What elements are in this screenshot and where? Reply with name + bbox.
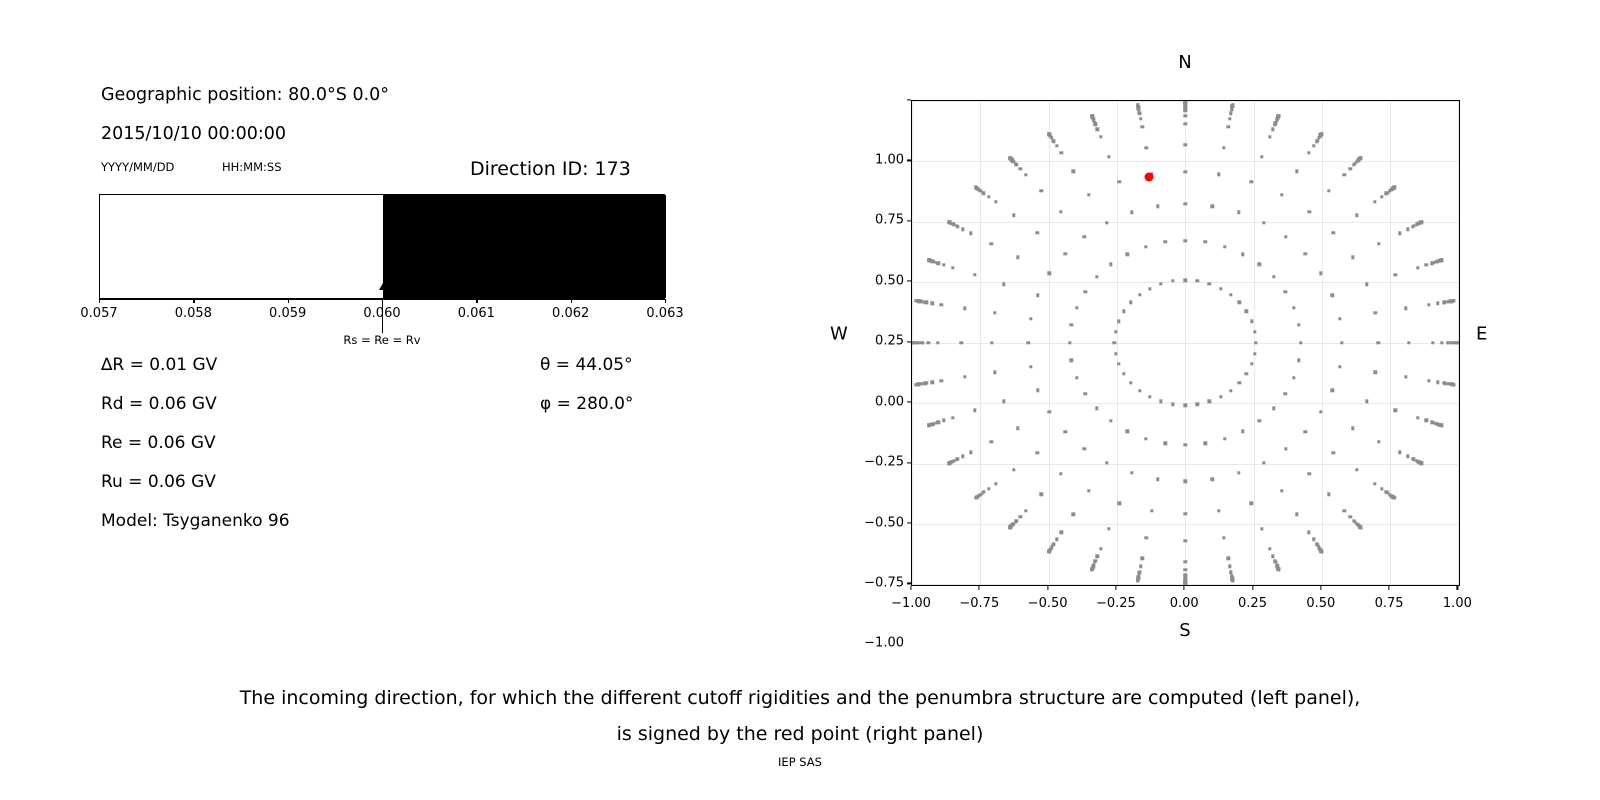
direction-dot [1411,225,1414,228]
direction-dot [1183,512,1186,515]
direction-dot [1063,430,1066,433]
direction-dot [1008,156,1011,159]
parameter-item: ∆R = 0.01 GV [101,355,217,375]
direction-dot [1136,579,1139,582]
direction-dot [1122,372,1125,375]
direction-dot [1331,451,1334,454]
direction-dot [1284,447,1287,450]
direction-dot [1359,526,1362,529]
direction-dot [1442,301,1445,304]
direction-dot [1008,526,1011,529]
direction-dot [982,192,985,195]
x-tick-mark [1252,586,1253,590]
direction-dot [1036,294,1039,297]
direction-dot [1217,509,1220,512]
gridline [912,282,1459,283]
direction-dot [1319,410,1322,413]
direction-dot [1427,379,1430,382]
direction-dot [1250,502,1253,505]
direction-dot [1327,189,1330,192]
direction-dot [1159,282,1162,285]
direction-dot [1254,341,1257,344]
y-tick-label: 0.50 [875,273,904,288]
direction-dot [1283,290,1286,293]
x-tick-label: 0.25 [1238,596,1267,611]
direction-dot [1095,275,1098,278]
direction-dot [1365,283,1368,286]
direction-dot [1373,200,1376,203]
direction-dot [1109,263,1112,266]
direction-dot [1349,167,1352,170]
direction-dot [1138,570,1141,573]
x-tick-mark [1320,586,1321,590]
direction-dot [1245,372,1248,375]
direction-dot [921,341,924,344]
direction-dot [1271,554,1274,557]
direction-dot [1338,365,1341,368]
parameter-item: Model: Tsyganenko 96 [101,511,290,531]
x-tick-mark [1184,586,1185,590]
direction-dot [1107,527,1110,530]
y-tick-mark [907,522,911,523]
direction-dot [1114,330,1117,333]
direction-dot [1250,320,1253,323]
direction-dot [1087,489,1090,492]
direction-dot [911,341,914,344]
direction-dot [1096,128,1099,131]
direction-dot [1183,170,1186,173]
direction-dot [1018,515,1021,518]
direction-dot [1425,419,1428,422]
direction-dot [1150,509,1153,512]
direction-dot [1237,471,1240,474]
direction-dot [1407,341,1410,344]
direction-dot [1141,125,1144,128]
direction-dot [1211,204,1214,207]
x-tick-label: −0.50 [1028,596,1068,611]
y-tick-mark [907,160,911,161]
x-tick-mark [1457,586,1458,590]
selected-direction-marker[interactable] [1145,173,1154,182]
direction-dot [1283,392,1286,395]
direction-dot [1416,266,1419,269]
direction-dot [1393,496,1396,499]
direction-dot [1171,279,1174,282]
direction-dot [1223,437,1226,440]
direction-dot [1377,341,1380,344]
direction-dot [1262,461,1265,464]
direction-dot [1036,451,1039,454]
direction-dot [961,227,964,230]
direction-dot [963,307,966,310]
direction-dot [1109,419,1112,422]
direction-dot [1237,211,1240,214]
direction-dot [1055,538,1058,541]
direction-dot [1338,317,1341,320]
direction-dot [1060,531,1063,534]
direction-dot [1222,536,1225,539]
direction-dot [1253,330,1256,333]
y-tick-label: −0.50 [864,515,904,530]
direction-dot [1040,493,1043,496]
direction-dot [1229,389,1232,392]
direction-dot [1148,395,1151,398]
direction-dot [961,455,964,458]
direction-id-label: Direction ID: 173 [470,158,631,180]
compass-label-east: E [1476,324,1487,345]
direction-dot [1229,570,1232,573]
direction-dot [1139,565,1142,568]
direction-dot [1404,375,1407,378]
direction-dot [1331,388,1334,391]
x-tick-label: 1.00 [1443,596,1472,611]
direction-dot [993,371,996,374]
direction-dot [1292,306,1295,309]
direction-dot [969,231,972,234]
direction-dot [987,195,990,198]
direction-dot [1297,323,1300,326]
direction-dot [1268,547,1271,550]
direction-dot [1055,144,1058,147]
compass-label-south: S [1179,620,1190,641]
direction-dot [1047,550,1050,553]
direction-dot [1406,227,1409,230]
direction-dot [1442,381,1445,384]
direction-dot [1295,512,1298,515]
direction-dot [1012,468,1015,471]
direction-dot [1036,388,1039,391]
direction-dot [1452,383,1455,386]
x-tick-label: 0.00 [1170,596,1199,611]
direction-dot [1145,146,1148,149]
direction-dot [1352,163,1355,166]
direction-dot [1398,231,1401,234]
direction-dot [1351,426,1354,429]
direction-dot [1084,392,1087,395]
direction-dot [973,409,976,412]
direction-dot [1096,554,1099,557]
direction-dot [1016,426,1019,429]
direction-dot [1258,263,1261,266]
direction-dot [1183,239,1186,242]
direction-dot [1105,461,1108,464]
direction-dot [1315,140,1318,143]
direction-dot [1015,163,1018,166]
y-tick-mark [907,462,911,463]
direction-dot [1228,565,1231,568]
direction-dot [1253,352,1256,355]
datetime-text: 2015/10/10 00:00:00 [101,124,286,144]
direction-dot [1393,186,1396,189]
gridline [912,222,1459,223]
direction-dot [1272,275,1275,278]
x-tick-mark [1115,586,1116,590]
x-tick-label: −1.00 [891,596,931,611]
direction-dot [951,266,954,269]
direction-dot [1138,112,1141,115]
direction-dot [1250,180,1253,183]
direction-dot [1299,341,1302,344]
parameter-item: φ = 280.0° [540,394,633,414]
direction-dot [969,451,972,454]
direction-dot [1016,256,1019,259]
direction-dot [1308,210,1311,213]
direction-dot [1320,550,1323,553]
x-tick-label: 0.75 [1375,596,1404,611]
direction-dot [1126,253,1129,256]
direction-dot [940,303,943,306]
direction-dot [1129,381,1132,384]
direction-dot [1027,341,1030,344]
direction-dot [925,381,928,384]
direction-dot [1277,568,1280,571]
direction-dot [1355,214,1358,217]
direction-dot [974,496,977,499]
direction-dot [1072,170,1075,173]
direction-dot [1373,482,1376,485]
direction-dot [1052,140,1055,143]
footer-credit: IEP SAS [0,755,1600,769]
direction-dot [1340,341,1343,344]
figure-caption: The incoming direction, for which the di… [0,680,1600,752]
direction-dot [1226,557,1229,560]
direction-dot [1380,195,1383,198]
direction-dot [1117,502,1120,505]
y-tick-mark [907,220,911,221]
direction-dot [1374,371,1377,374]
direction-dot [1229,293,1232,296]
direction-dot [1183,122,1186,125]
direction-dot [1183,109,1186,112]
direction-dot [937,262,940,265]
direction-dot [1411,457,1414,460]
direction-dot [1129,301,1132,304]
direction-dot [1271,128,1274,131]
direction-dot [1196,403,1199,406]
direction-dot [1208,282,1211,285]
direction-dot [1136,103,1139,106]
x-axis-tick-labels: −1.00−0.75−0.50−0.250.000.250.500.751.00 [911,592,1460,622]
direction-dot [1217,173,1220,176]
x-tick-label: −0.75 [959,596,999,611]
direction-dot [1070,359,1073,362]
direction-dot [1241,253,1244,256]
direction-dot [1292,376,1295,379]
direction-dot [947,220,950,223]
direction-dot [1436,302,1439,305]
parameter-item: Rd = 0.06 GV [101,394,217,414]
direction-dot [1117,362,1120,365]
direction-dot [1297,359,1300,362]
direction-dot [1343,173,1346,176]
y-tick-label: 0.00 [875,394,904,409]
direction-dot [1183,568,1186,571]
direction-dot [1183,573,1186,576]
direction-dot [1183,404,1186,407]
direction-dot [990,440,993,443]
direction-dot [1295,170,1298,173]
direction-dot [1250,362,1253,365]
direction-dot [1183,278,1186,281]
direction-dot [927,341,930,344]
direction-dot [1204,240,1207,243]
direction-dot [1130,471,1133,474]
direction-dot [915,299,918,302]
direction-dot [1183,202,1186,205]
direction-dot [1380,487,1383,490]
direction-dot [1183,143,1186,146]
direction-dot [1015,519,1018,522]
direction-dot [1312,144,1315,147]
direction-dot [1048,410,1051,413]
direction-dot [1163,240,1166,243]
direction-dot [1440,341,1443,344]
direction-dot [1075,376,1078,379]
direction-dot [1430,262,1433,265]
direction-dot [1226,125,1229,128]
direction-dot [1394,409,1397,412]
direction-dot [1072,512,1075,515]
direction-dot [940,379,943,382]
direction-dot [1219,287,1222,290]
y-tick-mark [907,99,911,100]
direction-dot [1107,155,1110,158]
direction-dot [1398,451,1401,454]
direction-dot [1099,135,1102,138]
direction-dot [1416,416,1419,419]
direction-dot [973,273,976,276]
direction-dot [1268,135,1271,138]
direction-dot [1229,112,1232,115]
rigidity-arrow-label: Rs = Re = Rv [343,333,420,347]
direction-dot [1427,303,1430,306]
direction-dot [960,341,963,344]
direction-dot [1113,341,1116,344]
direction-dot [927,424,930,427]
caption-line-1: The incoming direction, for which the di… [0,680,1600,716]
direction-dot [994,200,997,203]
direction-dot [1359,156,1362,159]
direction-dot [1211,478,1214,481]
y-tick-label: −1.00 [864,636,904,651]
direction-dot [1156,478,1159,481]
direction-dot [931,302,934,305]
direction-dot [925,301,928,304]
direction-dot [1351,256,1354,259]
x-tick-mark [910,586,911,590]
direction-dot [1307,151,1310,154]
direction-dot [1012,214,1015,217]
direction-dot [1075,306,1078,309]
date-format-hint: YYYY/MM/DD [101,160,174,174]
direction-dot [1144,437,1147,440]
direction-dot [1002,283,1005,286]
direction-dot [990,341,993,344]
direction-dot [1047,132,1050,135]
direction-dot [956,225,959,228]
direction-dot [1425,263,1428,266]
direction-dot [1105,221,1108,224]
direction-dot [1320,132,1323,135]
parameter-item: Ru = 0.06 GV [101,472,216,492]
direction-dot [1452,299,1455,302]
direction-dot [1171,403,1174,406]
compass-label-north: N [1178,52,1191,73]
direction-dot [1084,290,1087,293]
direction-dot [1312,538,1315,541]
direction-dot [931,380,934,383]
direction-dot [1223,245,1226,248]
x-tick-mark [979,586,980,590]
direction-dot [1260,527,1263,530]
direction-dot [942,419,945,422]
direction-dot [963,375,966,378]
y-tick-label: 0.25 [875,334,904,349]
direction-dot [1374,311,1377,314]
direction-dot [1304,252,1307,255]
direction-dot [1122,310,1125,313]
direction-dot [1156,204,1159,207]
caption-line-2: is signed by the red point (right panel) [0,716,1600,752]
direction-dot [1183,480,1186,483]
direction-dot [1241,429,1244,432]
penumbra-tick [665,299,666,303]
direction-dot [1183,560,1186,563]
direction-dot [987,487,990,490]
x-tick-label: 0.50 [1306,596,1335,611]
direction-dot [1307,531,1310,534]
right-panel: N S W E −1.00−0.75−0.50−0.250.000.250.50… [820,40,1520,660]
direction-dot [1238,301,1241,304]
direction-dot [1090,568,1093,571]
direction-dot [1018,167,1021,170]
x-tick-mark [1389,586,1390,590]
direction-dot [1059,472,1062,475]
y-tick-mark [907,341,911,342]
direction-dot [1060,151,1063,154]
direction-dot [942,263,945,266]
direction-dot [1163,442,1166,445]
x-tick-label: −0.25 [1096,596,1136,611]
direction-dot [1145,536,1148,539]
rigidity-arrow-head [379,283,387,290]
direction-dot [1377,440,1380,443]
direction-dot [1331,231,1334,234]
direction-dot [1183,539,1186,542]
y-axis-tick-labels: −1.00−0.75−0.50−0.250.000.250.500.751.00 [820,100,904,586]
direction-dot [1406,455,1409,458]
direction-dot [1231,103,1234,106]
direction-dot [1029,317,1032,320]
direction-dot [1355,468,1358,471]
direction-dot [1183,114,1186,117]
direction-dot [1138,389,1141,392]
y-tick-mark [907,583,911,584]
gridline [912,464,1459,465]
direction-dot [1117,320,1120,323]
direction-dot [1138,293,1141,296]
direction-dot [1231,579,1234,582]
direction-dot [1349,515,1352,518]
rigidity-arrow-annotation: Rs = Re = Rv [99,283,665,333]
direction-dot [1208,400,1211,403]
direction-dot [1183,100,1186,103]
direction-dot [994,482,997,485]
direction-dot [1331,294,1334,297]
direction-dot [974,186,977,189]
direction-dot [1126,429,1129,432]
direction-dot [956,457,959,460]
